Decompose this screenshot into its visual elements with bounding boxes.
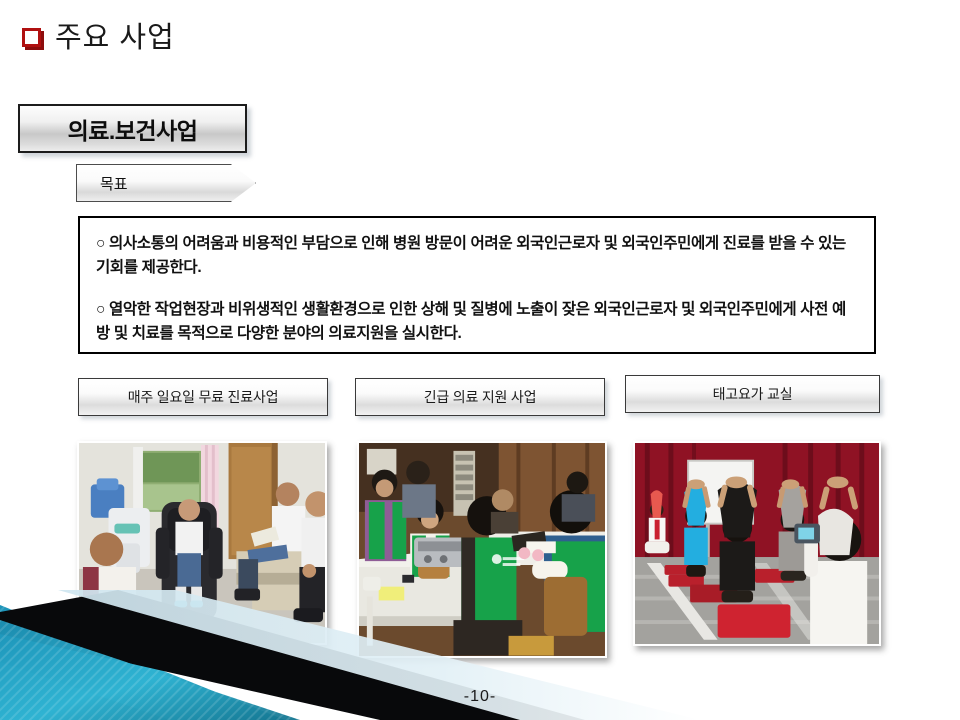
medical-volunteers-photo-graphic [359,443,605,657]
medical-volunteers-photo [357,441,607,658]
program-caption-box-2: 긴급 의료 지원 사업 [355,378,605,416]
page-title: 주요 사업 [22,14,175,56]
program-caption-label-2: 긴급 의료 지원 사업 [424,387,537,407]
goal-arrow-banner: 목표 [76,164,256,202]
goal-paragraph-2: ○ 열악한 작업현장과 비위생적인 생활환경으로 인한 상해 및 질병에 노출이… [96,298,858,346]
page-number: -10- [0,688,960,706]
presentation-slide: 주요 사업 의료.보건사업 목표 ○ 의사소통의 어려움과 비용적인 부담으로 … [0,0,960,720]
clinic-waiting-room-photo-graphic [79,443,325,644]
program-caption-box-1: 매주 일요일 무료 진료사업 [78,378,328,416]
red-square-bullet-icon [22,28,41,47]
program-caption-label-3: 태고요가 교실 [713,384,793,404]
yoga-class-photo-graphic [635,443,879,645]
section-header-label: 의료.보건사업 [68,112,198,146]
goal-arrow-label: 목표 [100,164,128,202]
yoga-class-photo [633,441,881,646]
goal-paragraph-1: ○ 의사소통의 어려움과 비용적인 부담으로 인해 병원 방문이 어려운 외국인… [96,232,858,280]
program-caption-label-1: 매주 일요일 무료 진료사업 [128,387,279,407]
section-header-plate: 의료.보건사업 [18,104,247,153]
goal-text-box: ○ 의사소통의 어려움과 비용적인 부담으로 인해 병원 방문이 어려운 외국인… [78,216,876,354]
clinic-waiting-room-photo [77,441,327,645]
program-caption-box-3: 태고요가 교실 [625,375,880,413]
page-title-text: 주요 사업 [55,14,175,56]
